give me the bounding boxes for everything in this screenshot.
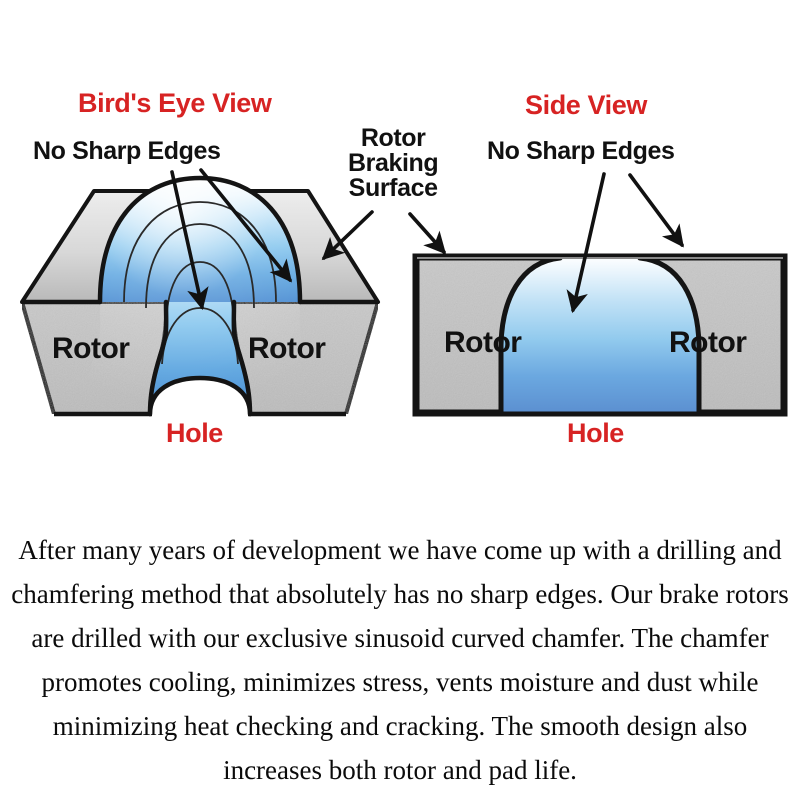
label-hole-birds-eye: Hole [166, 418, 223, 449]
label-rotor-braking-surface: Rotor Braking Surface [348, 126, 438, 201]
label-hole-side-view: Hole [567, 418, 624, 449]
rotor-label-birds-eye-left: Rotor [52, 332, 129, 366]
rotor-label-birds-eye-right: Rotor [248, 332, 325, 366]
rotor-label-side-view-right: Rotor [669, 326, 746, 360]
title-birds-eye-view: Bird's Eye View [78, 88, 272, 119]
label-no-sharp-edges-side-view: No Sharp Edges [487, 137, 675, 166]
description-paragraph: After many years of development we have … [0, 528, 800, 792]
title-side-view: Side View [525, 90, 647, 121]
label-no-sharp-edges-birds-eye: No Sharp Edges [33, 137, 221, 166]
arrow-rotor-braking-surface-right [410, 214, 444, 252]
arrow-no-sharp-edges-right-outer [630, 175, 682, 245]
diagram-area: Bird's Eye View Side View No Sharp Edges… [0, 0, 800, 480]
diagram-svg [0, 0, 800, 480]
rotor-label-side-view-left: Rotor [444, 326, 521, 360]
page-root: Bird's Eye View Side View No Sharp Edges… [0, 0, 800, 800]
